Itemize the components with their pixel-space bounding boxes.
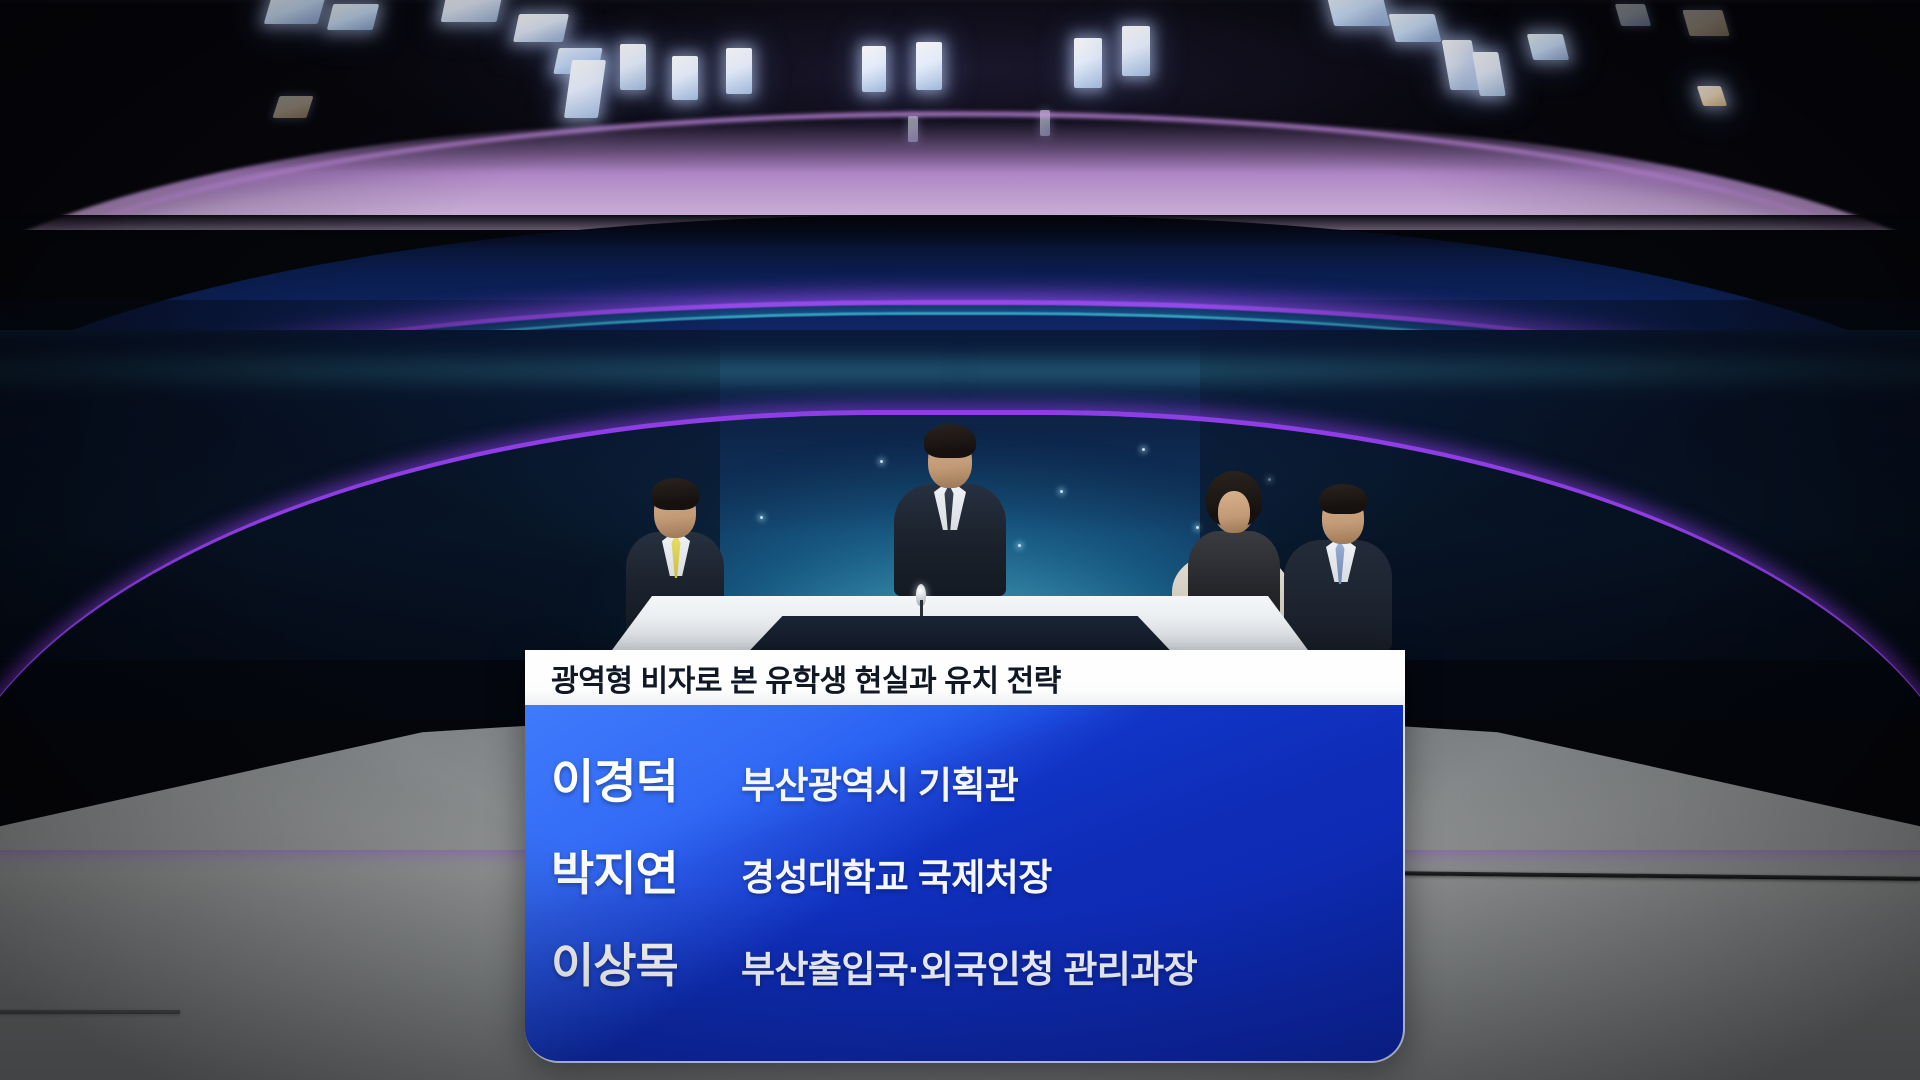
program-topic-title: 광역형 비자로 본 유학생 현실과 유치 전략 xyxy=(525,656,1061,700)
panelist-row: 박지연 경성대학교 국제처장 xyxy=(525,835,1403,927)
lower-third-graphic: 광역형 비자로 본 유학생 현실과 유치 전략 이경덕 부산광역시 기획관 박지… xyxy=(525,650,1405,1063)
panelist-name: 이경덕 xyxy=(551,743,741,812)
studio-ceiling xyxy=(0,0,1920,230)
panelist-name: 박지연 xyxy=(551,835,741,904)
person-moderator xyxy=(890,410,1010,600)
panelist-list: 이경덕 부산광역시 기획관 박지연 경성대학교 국제처장 이상목 부산출입국·외… xyxy=(525,705,1405,1063)
desk-microphone-stem xyxy=(920,600,923,616)
lower-third-title-bar: 광역형 비자로 본 유학생 현실과 유치 전략 xyxy=(525,650,1405,705)
panelist-role: 부산광역시 기획관 xyxy=(741,755,1018,809)
panelist-role: 부산출입국·외국인청 관리과장 xyxy=(741,939,1197,993)
panelist-row: 이상목 부산출입국·외국인청 관리과장 xyxy=(525,927,1403,1019)
ceiling-cove-edge xyxy=(0,112,1920,230)
panelist-name: 이상목 xyxy=(551,927,741,996)
panelist-row: 이경덕 부산광역시 기획관 xyxy=(525,743,1403,835)
floor-cable-left xyxy=(0,1010,180,1014)
broadcast-frame: 광역형 비자로 본 유학생 현실과 유치 전략 이경덕 부산광역시 기획관 박지… xyxy=(0,0,1920,1080)
person-panelist-right-outer xyxy=(1278,470,1398,640)
panelist-role: 경성대학교 국제처장 xyxy=(741,847,1052,901)
